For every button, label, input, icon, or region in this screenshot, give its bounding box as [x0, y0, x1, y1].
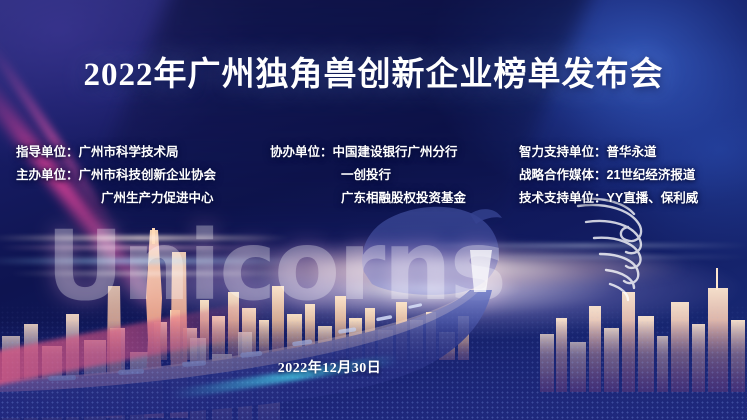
credit-label: 战略合作媒体：	[519, 164, 607, 187]
credits-column-right: 智力支持单位：普华永道 战略合作媒体：21世纪经济报道 技术支持单位：YY直播、…	[519, 141, 698, 210]
page-title: 2022年广州独角兽创新企业榜单发布会	[0, 47, 747, 95]
credit-row: 技术支持单位：YY直播、保利威	[519, 187, 698, 210]
credits-column-left: 指导单位：广州市科学技术局 主办单位：广州市科技创新企业协会 广州生产力促进中心	[16, 141, 216, 210]
credit-label: 智力支持单位：	[519, 141, 607, 164]
credit-value: 21世纪经济报道	[607, 164, 696, 187]
credit-value: 普华永道	[607, 141, 657, 164]
credit-row: 智力支持单位：普华永道	[519, 141, 698, 164]
credit-value: 广州生产力促进中心	[101, 187, 214, 210]
event-date: 2022年12月30日	[0, 357, 703, 377]
credit-label: 协办单位：	[270, 141, 333, 164]
credit-value: 广东相融股权投资基金	[341, 187, 466, 210]
credits-block: 指导单位：广州市科学技术局 主办单位：广州市科技创新企业协会 广州生产力促进中心…	[0, 141, 747, 217]
credit-value: 广州市科技创新企业协会	[79, 164, 217, 187]
credit-row: 战略合作媒体：21世纪经济报道	[519, 164, 698, 187]
credit-row: 指导单位：广州市科学技术局	[16, 141, 216, 164]
credit-value: 一创投行	[341, 164, 391, 187]
credit-row: 协办单位：中国建设银行广州分行	[270, 141, 466, 164]
credit-row: 主办单位：广州市科技创新企业协会	[16, 164, 216, 187]
credit-value: YY直播、保利威	[607, 187, 699, 210]
poster-content: 2022年广州独角兽创新企业榜单发布会 指导单位：广州市科学技术局 主办单位：广…	[0, 0, 747, 420]
credits-column-middle: 协办单位：中国建设银行广州分行 一创投行 广东相融股权投资基金	[270, 141, 466, 210]
credit-label: 指导单位：	[16, 141, 79, 164]
credit-value: 中国建设银行广州分行	[333, 141, 458, 164]
credit-row: 一创投行	[270, 164, 466, 187]
credit-label: 主办单位：	[16, 164, 79, 187]
credit-row: 广州生产力促进中心	[16, 187, 216, 210]
credit-value: 广州市科学技术局	[79, 141, 179, 164]
credit-label: 技术支持单位：	[519, 187, 607, 210]
poster-canvas: Unicorns	[0, 0, 747, 420]
credit-row: 广东相融股权投资基金	[270, 187, 466, 210]
